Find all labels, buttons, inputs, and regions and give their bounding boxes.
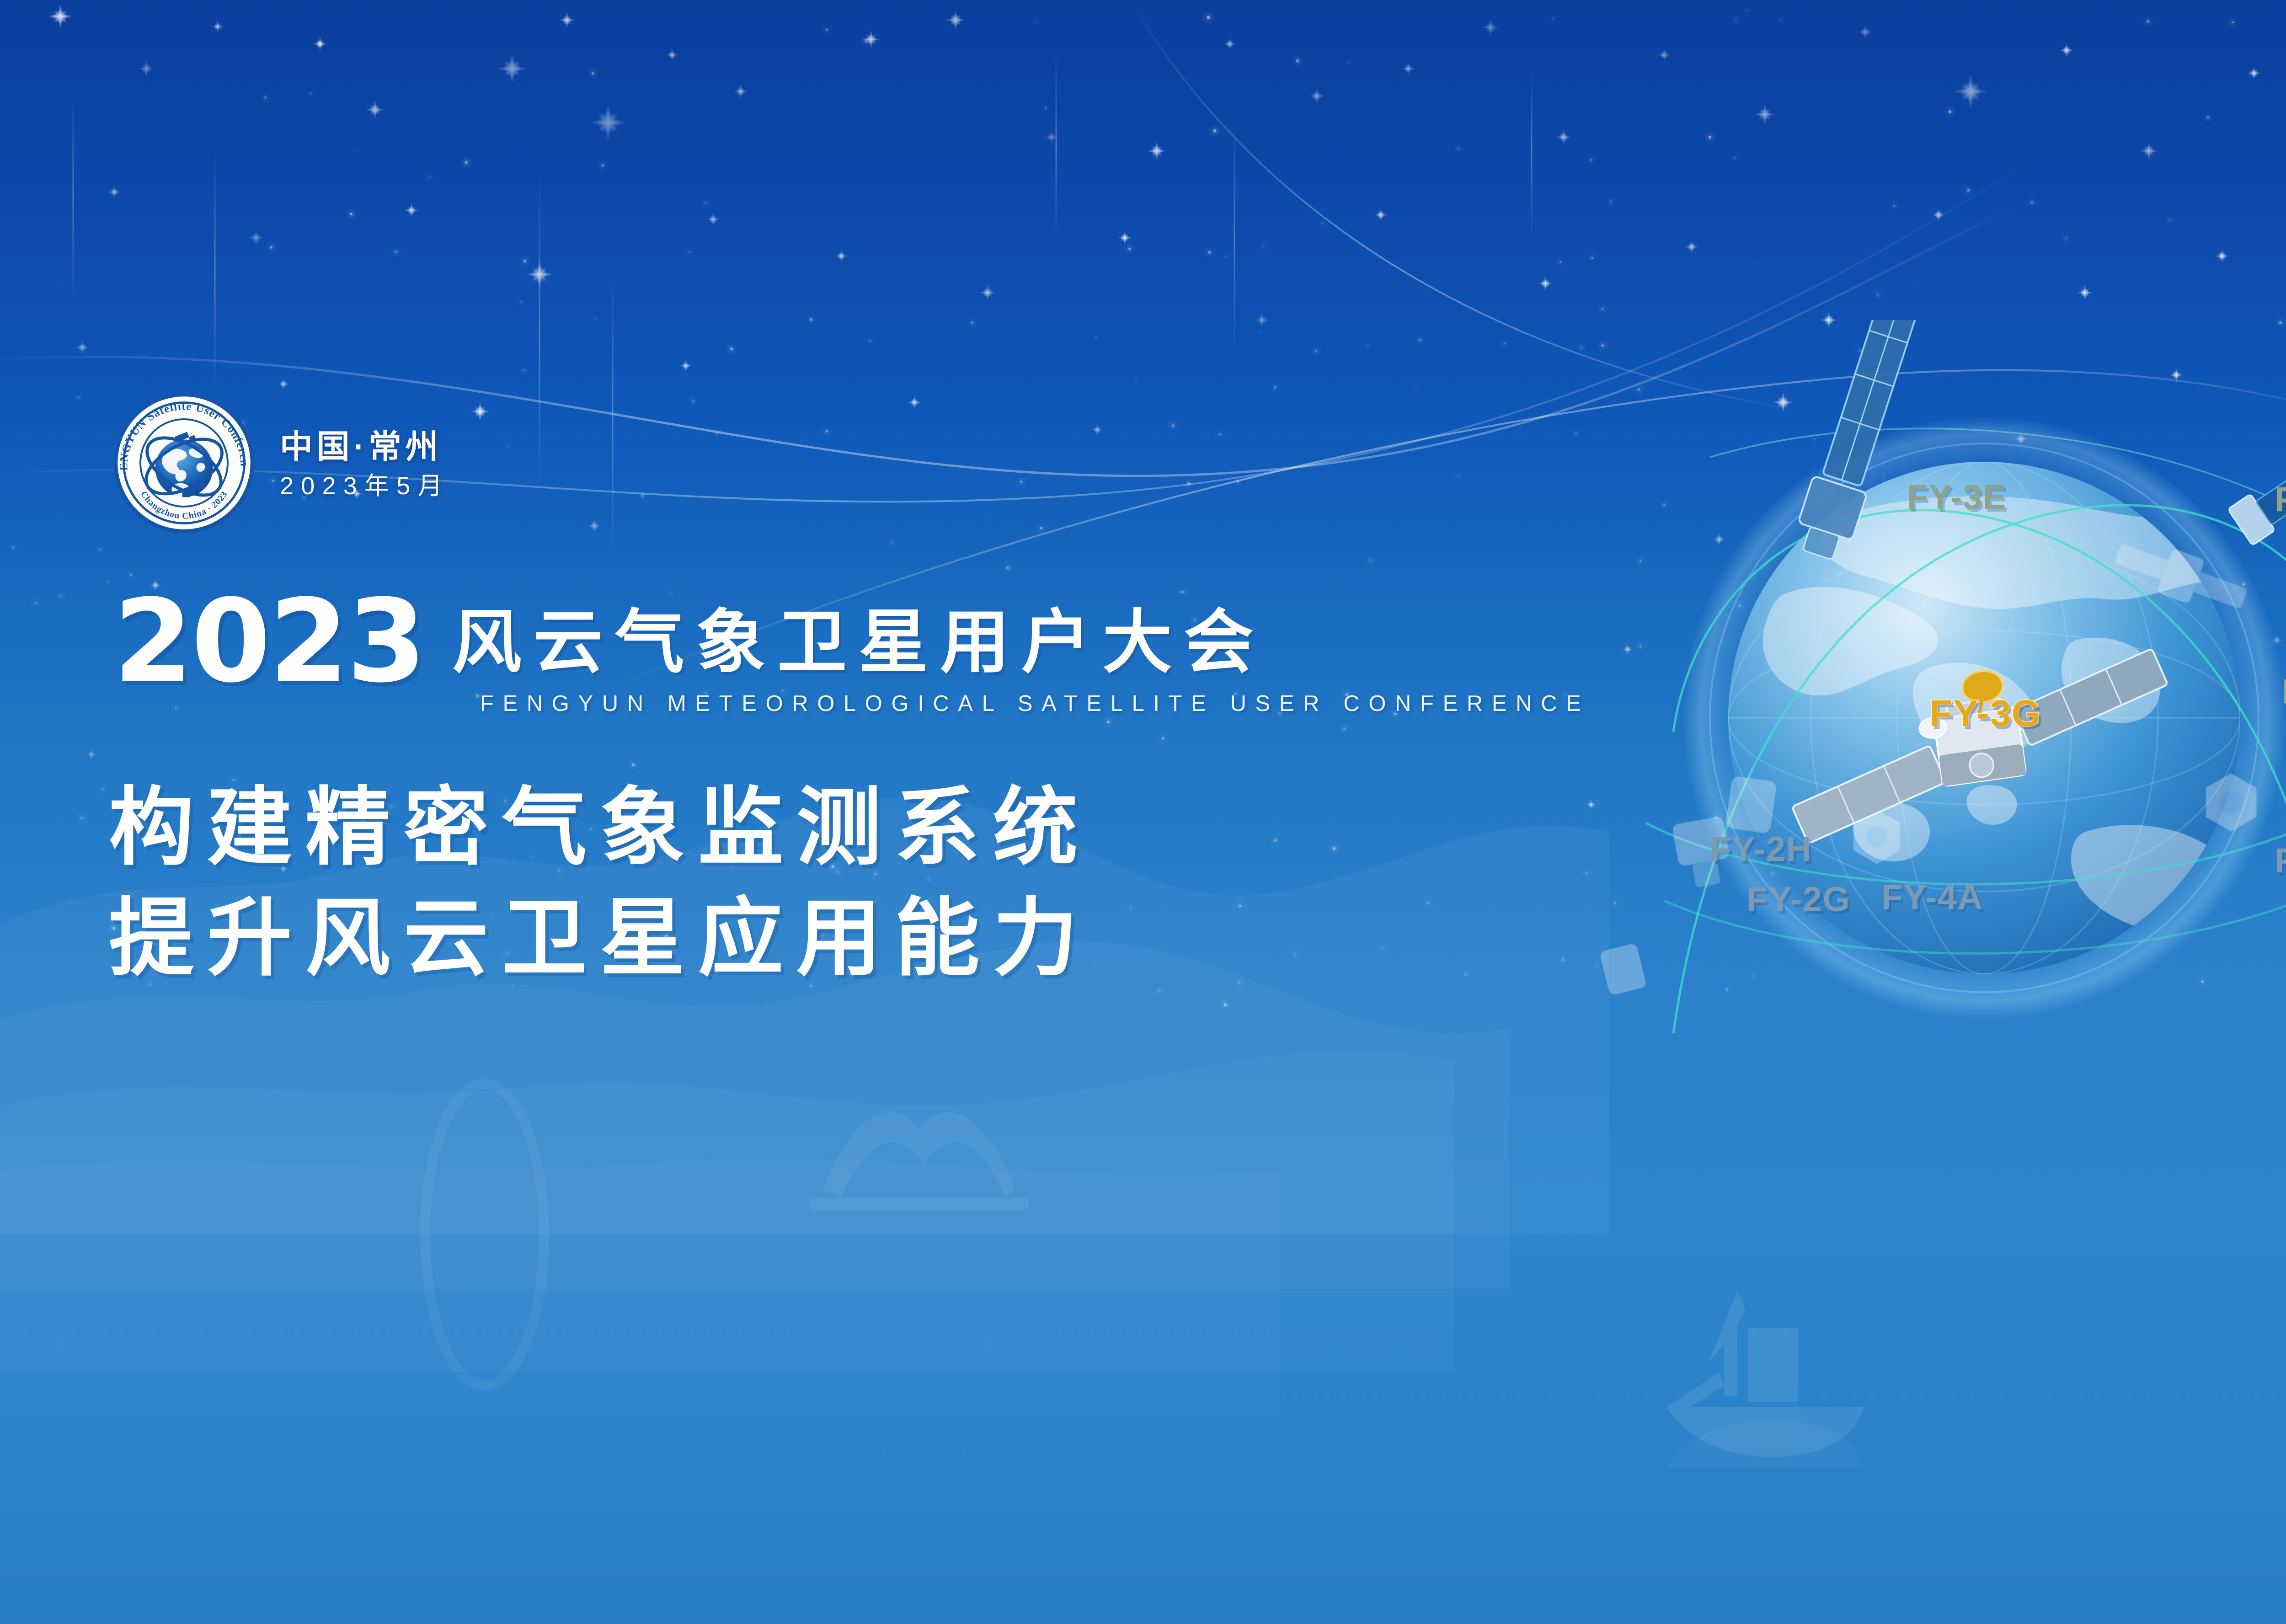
star-dot-icon	[1159, 990, 1160, 991]
star-sparkle-icon	[832, 247, 850, 265]
star-dot-icon	[1967, 189, 1969, 191]
star-dot-icon	[1224, 1004, 1227, 1006]
star-sparkle-icon	[677, 357, 695, 375]
star-dot-icon	[1237, 481, 1239, 483]
star-dot-icon	[1213, 129, 1217, 132]
star-dot-icon	[523, 259, 526, 262]
star-dot-icon	[264, 96, 267, 99]
star-dot-icon	[810, 318, 812, 321]
star-dot-icon	[1045, 107, 1047, 108]
star-dot-icon	[2065, 237, 2066, 238]
star-sparkle-icon	[84, 747, 99, 762]
star-dot-icon	[1094, 965, 1095, 966]
star-sparkle-icon	[2073, 281, 2096, 304]
star-dot-icon	[693, 401, 694, 402]
star-dot-icon	[1321, 222, 1324, 224]
star-dot-icon	[1136, 380, 1137, 382]
star-sparkle-icon	[1089, 421, 1106, 438]
star-sparkle-icon	[1398, 59, 1418, 79]
star-dot-icon	[1239, 905, 1241, 907]
conference-title-zh: 风云气象卫星用户大会	[452, 608, 1265, 688]
star-sparkle-icon	[519, 254, 560, 294]
star-sparkle-icon	[585, 516, 604, 535]
globe-satellite-scene: FY-3EFY-3CFY-3DFY-3GFY-2HFY-2GFY-4AFY-4B	[1390, 320, 2286, 1189]
star-sparkle-icon	[1221, 35, 1239, 53]
star-dot-icon	[60, 596, 61, 597]
star-dot-icon	[465, 161, 468, 164]
slogan-line-2: 提升风云卫星应用能力	[109, 883, 1091, 994]
star-dot-icon	[357, 149, 358, 150]
star-sparkle-icon	[703, 209, 723, 230]
star-dot-icon	[1746, 10, 1748, 11]
star-dot-icon	[523, 369, 524, 371]
star-dot-icon	[592, 72, 594, 75]
star-dot-icon	[102, 789, 103, 790]
star-dot-icon	[1239, 982, 1240, 983]
star-dot-icon	[1949, 111, 1952, 113]
star-dot-icon	[1181, 591, 1184, 593]
star-dot-icon	[716, 432, 719, 435]
star-sparkle-icon	[941, 5, 970, 35]
star-dot-icon	[1187, 482, 1190, 485]
star-sparkle-icon	[134, 56, 159, 81]
city-label: 中国·常州	[280, 431, 450, 464]
star-sparkle-icon	[1251, 310, 1272, 331]
star-sparkle-icon	[2056, 40, 2077, 61]
date-label: 2023年5月	[280, 474, 450, 498]
star-dot-icon	[1457, 148, 1459, 150]
satellite-label-fy-3d: FY-3D	[2281, 674, 2286, 709]
star-dot-icon	[2207, 116, 2209, 118]
star-sparkle-icon	[490, 47, 534, 91]
star-sparkle-icon	[245, 226, 267, 249]
star-sparkle-icon	[72, 337, 92, 358]
star-sparkle-icon	[976, 281, 999, 304]
star-dot-icon	[1367, 345, 1368, 347]
star-dot-icon	[1172, 424, 1175, 427]
star-sparkle-icon	[2211, 246, 2233, 267]
star-dot-icon	[1877, 294, 1878, 295]
star-dot-icon	[395, 250, 398, 253]
star-dot-icon	[1734, 156, 1736, 158]
star-dot-icon	[1207, 16, 1210, 19]
star-sparkle-icon	[1928, 205, 1949, 225]
star-sparkle-icon	[2244, 63, 2264, 83]
star-sparkle-icon	[401, 200, 422, 221]
star-dot-icon	[1315, 350, 1317, 352]
star-streak-decoration	[1531, 64, 1533, 238]
star-dot-icon	[99, 548, 101, 550]
globe-graphic	[1390, 320, 2286, 1189]
star-dot-icon	[641, 494, 644, 497]
star-dot-icon	[1274, 386, 1277, 389]
star-dot-icon	[429, 176, 431, 178]
star-dot-icon	[35, 603, 37, 604]
star-sparkle-icon	[663, 46, 681, 64]
star-sparkle-icon	[858, 26, 884, 53]
star-dot-icon	[1208, 251, 1211, 254]
star-dot-icon	[78, 397, 80, 398]
star-streak-decoration	[612, 274, 614, 558]
star-sparkle-icon	[310, 34, 330, 54]
star-sparkle-icon	[43, 0, 78, 34]
star-streak-decoration	[1056, 55, 1057, 238]
star-dot-icon	[1602, 308, 1603, 310]
star-dot-icon	[730, 347, 733, 350]
star-dot-icon	[632, 763, 635, 766]
star-dot-icon	[270, 246, 272, 249]
star-sparkle-icon	[466, 398, 494, 425]
star-dot-icon	[892, 542, 893, 544]
star-sparkle-icon	[1553, 126, 1575, 148]
star-dot-icon	[1591, 257, 1593, 259]
star-dot-icon	[1296, 59, 1299, 63]
slogan-block: 构建精密气象监测系统 提升风云卫星应用能力	[109, 773, 1091, 994]
star-dot-icon	[1130, 907, 1132, 909]
satellite-label-fy-4b: FY-4B	[2275, 844, 2286, 878]
star-dot-icon	[1128, 247, 1131, 251]
star-dot-icon	[1736, 21, 1737, 22]
star-dot-icon	[1218, 433, 1221, 435]
star-dot-icon	[1274, 839, 1277, 841]
star-sparkle-icon	[274, 375, 293, 393]
poster-canvas: FENGYUN Satellite User Conference Changz…	[0, 0, 2286, 1624]
star-dot-icon	[826, 29, 828, 31]
satellite-label-fy-2g: FY-2G	[1747, 882, 1850, 917]
star-dot-icon	[2031, 201, 2034, 204]
star-dot-icon	[1590, 159, 1592, 161]
satellite-label-fy-2h: FY-2H	[1710, 832, 1812, 867]
star-sparkle-icon	[2136, 138, 2162, 164]
star-dot-icon	[1755, 263, 1756, 264]
star-sparkle-icon	[1534, 272, 1556, 294]
star-dot-icon	[1610, 201, 1611, 202]
star-sparkle-icon	[1749, 99, 1780, 130]
star-sparkle-icon	[581, 95, 636, 150]
star-dot-icon	[2232, 21, 2234, 23]
star-dot-icon	[1294, 953, 1296, 955]
year-number: 2023	[113, 594, 425, 688]
star-streak-decoration	[214, 151, 216, 389]
star-sparkle-icon	[1682, 237, 1702, 257]
location-date-block: 中国·常州 2023年5月	[280, 428, 450, 498]
star-dot-icon	[1552, 18, 1554, 20]
star-dot-icon	[689, 251, 691, 253]
star-dot-icon	[12, 546, 15, 549]
star-sparkle-icon	[1654, 45, 1674, 65]
star-streak-decoration	[539, 174, 540, 494]
star-sparkle-icon	[1042, 127, 1062, 147]
satellite-label-fy-3g: FY-3G	[1929, 695, 2041, 732]
star-dot-icon	[1370, 560, 1371, 561]
star-dot-icon	[1162, 737, 1164, 739]
star-sparkle-icon	[361, 96, 389, 123]
star-dot-icon	[601, 164, 604, 167]
star-streak-decoration	[1234, 119, 1235, 357]
conference-emblem-icon: FENGYUN Satellite User Conference Changz…	[112, 391, 256, 535]
star-dot-icon	[1381, 947, 1383, 949]
star-dot-icon	[507, 445, 508, 447]
star-dot-icon	[1560, 261, 1561, 263]
star-sparkle-icon	[208, 17, 227, 36]
star-dot-icon	[1343, 727, 1346, 730]
star-dot-icon	[2147, 20, 2150, 23]
star-dot-icon	[971, 321, 974, 324]
star-dot-icon	[1035, 21, 1036, 22]
star-sparkle-icon	[1945, 66, 1996, 117]
star-dot-icon	[520, 300, 523, 303]
star-dot-icon	[1780, 19, 1782, 20]
star-dot-icon	[54, 15, 55, 16]
slogan-line-1: 构建精密气象监测系统	[109, 773, 1091, 883]
star-dot-icon	[1225, 256, 1227, 258]
star-dot-icon	[1095, 336, 1097, 339]
star-dot-icon	[1260, 331, 1261, 332]
star-dot-icon	[350, 213, 353, 215]
star-dot-icon	[869, 340, 871, 342]
conference-logo-block: FENGYUN Satellite User Conference Changz…	[112, 391, 450, 535]
star-dot-icon	[1333, 847, 1335, 850]
star-dot-icon	[1007, 567, 1009, 569]
star-sparkle-icon	[1305, 85, 1328, 107]
star-dot-icon	[1107, 721, 1110, 723]
star-dot-icon	[1263, 245, 1264, 246]
star-sparkle-icon	[730, 81, 751, 102]
star-sparkle-icon	[1143, 137, 1171, 165]
star-dot-icon	[1040, 527, 1042, 529]
star-dot-icon	[595, 318, 596, 320]
star-sparkle-icon	[555, 8, 579, 32]
star-dot-icon	[310, 92, 312, 95]
sailboat-watermark-icon	[1532, 1276, 1943, 1486]
star-sparkle-icon	[105, 182, 124, 202]
satellite-label-fy-3e: FY-3E	[1907, 480, 2007, 515]
star-streak-decoration	[73, 91, 74, 302]
star-sparkle-icon	[1371, 205, 1390, 224]
satellite-label-fy-4a: FY-4A	[1881, 880, 1983, 915]
satellite-label-fy-3c: FY-3C	[2275, 482, 2286, 517]
star-dot-icon	[1020, 481, 1022, 483]
star-dot-icon	[825, 429, 828, 433]
star-dot-icon	[865, 40, 868, 43]
star-dot-icon	[1893, 205, 1895, 207]
star-dot-icon	[81, 817, 82, 819]
star-sparkle-icon	[1115, 228, 1135, 248]
star-dot-icon	[1348, 62, 1350, 64]
star-dot-icon	[2169, 219, 2170, 220]
star-dot-icon	[107, 580, 109, 582]
star-sparkle-icon	[1478, 15, 1503, 40]
star-dot-icon	[1709, 136, 1711, 139]
star-sparkle-icon	[904, 392, 924, 412]
star-sparkle-icon	[1854, 21, 1877, 43]
star-dot-icon	[705, 203, 706, 204]
